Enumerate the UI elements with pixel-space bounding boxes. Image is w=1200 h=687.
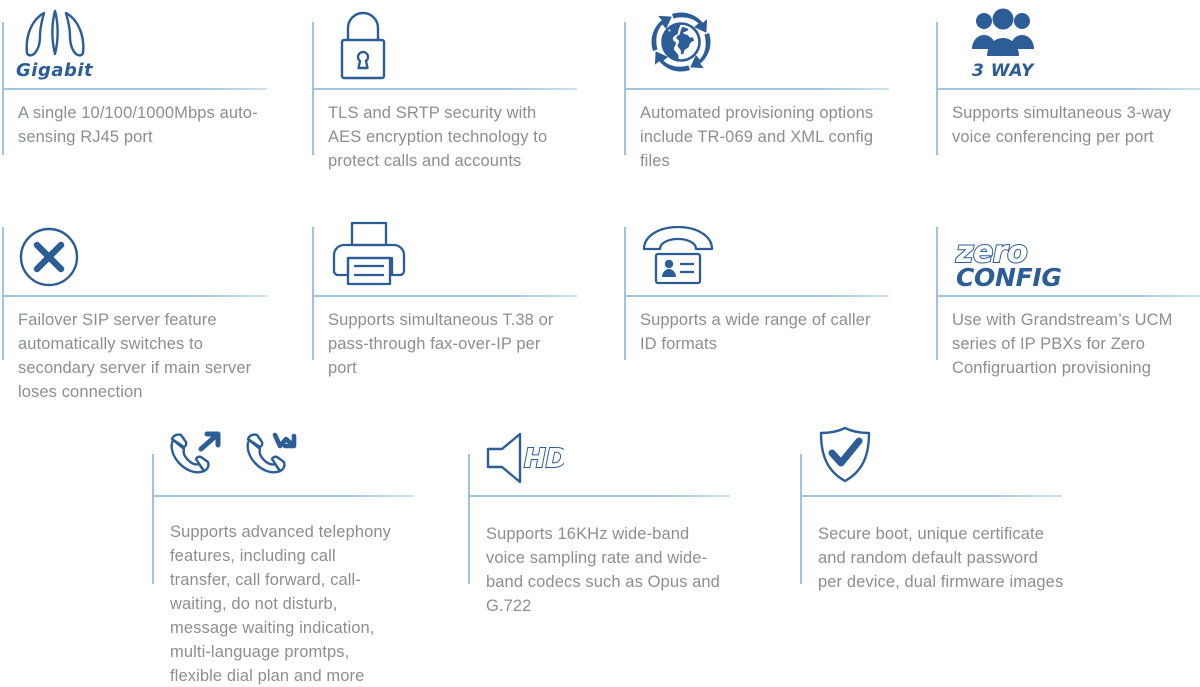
icon-area — [642, 0, 720, 80]
cell-horizontal-rule — [2, 295, 267, 297]
cell-horizontal-rule — [624, 88, 889, 90]
icon-area: Gigabit — [16, 0, 93, 80]
feature-description: Supports simultaneous T.38 or pass-throu… — [328, 308, 568, 380]
icon-area — [334, 0, 392, 80]
svg-text:HD: HD — [524, 444, 564, 474]
feature-cell-advanced-telephony: Supports advanced telephony features, in… — [152, 432, 452, 687]
cell-left-rule — [152, 454, 154, 584]
icon-area: zero CONFIG — [956, 223, 1062, 288]
feature-description: Failover SIP server feature automaticall… — [18, 308, 256, 404]
cell-horizontal-rule — [624, 295, 889, 297]
icon-area — [642, 217, 714, 288]
hd-speaker-icon: HD — [486, 432, 564, 489]
cell-left-rule — [936, 227, 938, 360]
three-people-icon — [970, 8, 1036, 60]
fax-printer-icon — [332, 220, 406, 288]
padlock-icon — [334, 8, 392, 80]
shield-check-icon — [818, 426, 872, 489]
icon-area — [168, 432, 302, 489]
icon-area — [332, 213, 406, 288]
phone-id-card-icon — [642, 226, 714, 288]
feature-description: Supports 16KHz wide-band voice sampling … — [486, 522, 726, 618]
feature-description: Supports advanced telephony features, in… — [170, 520, 400, 687]
gigabit-speed-icon — [20, 8, 90, 58]
feature-cell-failover-sip-server: Failover SIP server feature automaticall… — [2, 205, 302, 415]
feature-cell-caller-id-formats: Supports a wide range of caller ID forma… — [624, 205, 924, 415]
icon-caption: 3 WAY — [972, 63, 1034, 80]
cell-horizontal-rule — [936, 88, 1200, 90]
icon-area — [18, 213, 80, 288]
cell-horizontal-rule — [800, 495, 1062, 497]
cell-horizontal-rule — [2, 88, 267, 90]
feature-description: A single 10/100/1000Mbps auto-sensing RJ… — [18, 101, 258, 149]
feature-description: Secure boot, unique certificate and rand… — [818, 522, 1066, 594]
zero-config-wordmark-icon: zero CONFIG — [956, 240, 1062, 288]
x-circle-icon — [18, 226, 80, 288]
feature-cell-tls-srtp-security: TLS and SRTP security with AES encryptio… — [312, 0, 612, 200]
feature-description: Automated provisioning options include T… — [640, 101, 880, 173]
feature-cell-three-way-conferencing: 3 WAY Supports simultaneous 3-way voice … — [936, 0, 1200, 200]
feature-cell-automated-provisioning: Automated provisioning options include T… — [624, 0, 924, 200]
feature-description: Supports a wide range of caller ID forma… — [640, 308, 876, 356]
call-transfer-icon — [168, 430, 226, 489]
cell-left-rule — [624, 227, 626, 360]
feature-description: TLS and SRTP security with AES encryptio… — [328, 101, 564, 173]
cell-left-rule — [468, 454, 470, 584]
cell-left-rule — [800, 454, 802, 584]
icon-caption: Gigabit — [16, 62, 93, 80]
feature-cell-hd-wideband-voice: HD Supports 16KHz wide-band voice sampli… — [468, 432, 768, 687]
cell-horizontal-rule — [312, 295, 577, 297]
globe-sync-icon — [642, 4, 720, 80]
feature-cell-secure-boot: Secure boot, unique certificate and rand… — [800, 432, 1080, 687]
feature-cell-gigabit-port: Gigabit A single 10/100/1000Mbps auto-se… — [2, 0, 302, 200]
feature-description: Supports simultaneous 3-way voice confer… — [952, 101, 1182, 149]
cell-left-rule — [2, 227, 4, 360]
cell-left-rule — [312, 227, 314, 360]
feature-description: Use with Grandstream’s UCM series of IP … — [952, 308, 1178, 380]
feature-cell-fax-over-ip: Supports simultaneous T.38 or pass-throu… — [312, 205, 612, 415]
icon-area — [818, 432, 872, 489]
cell-horizontal-rule — [312, 88, 577, 90]
feature-cell-zero-config-provisioning: zero CONFIG Use with Grandstream’s UCM s… — [936, 205, 1200, 415]
icon-area: HD — [486, 432, 564, 489]
feature-grid: Gigabit A single 10/100/1000Mbps auto-se… — [0, 0, 1200, 687]
config-word: CONFIG — [956, 267, 1062, 289]
cell-horizontal-rule — [152, 495, 414, 497]
icon-area: 3 WAY — [970, 0, 1036, 80]
cell-horizontal-rule — [468, 495, 730, 497]
zero-word: zero — [956, 240, 1027, 266]
cell-horizontal-rule — [936, 295, 1200, 297]
call-forward-icon — [244, 430, 302, 489]
